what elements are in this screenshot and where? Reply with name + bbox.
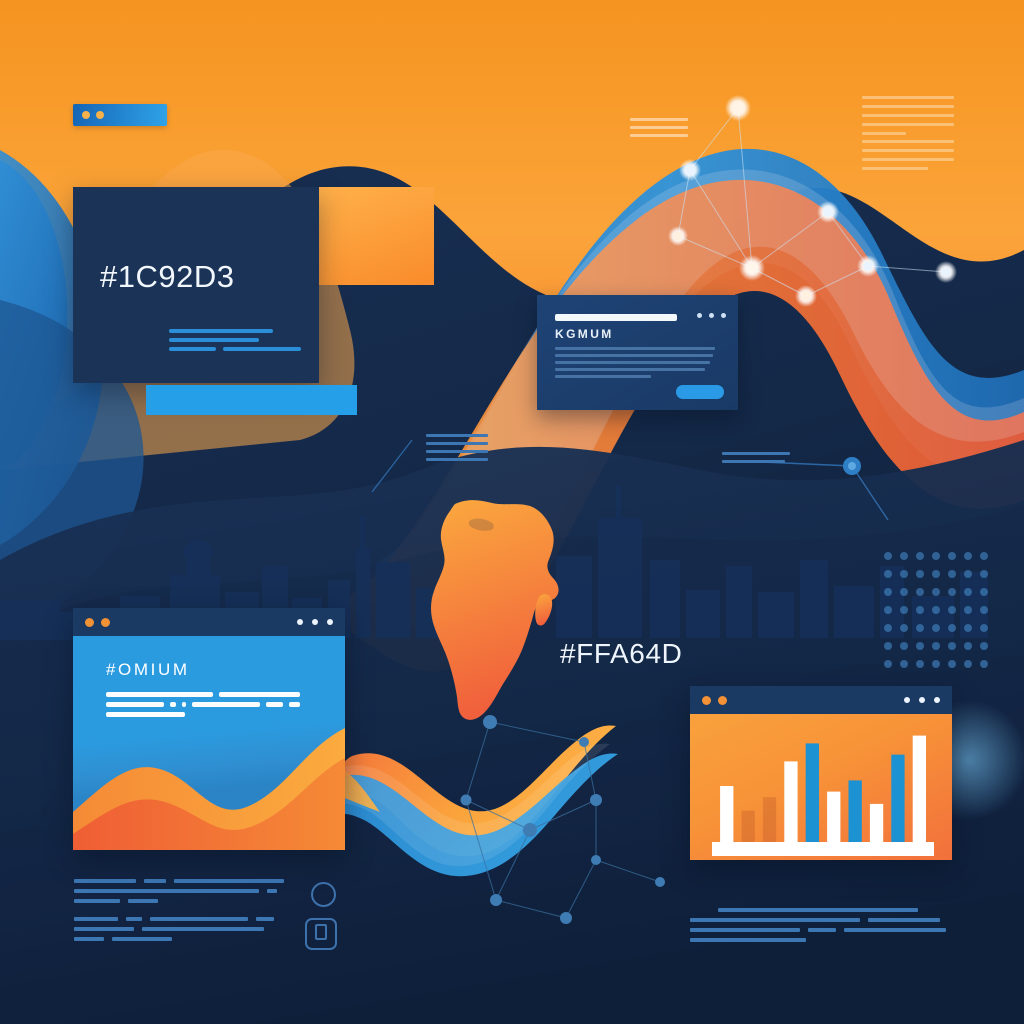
window-dot bbox=[96, 111, 104, 119]
chip-outline-icon[interactable] bbox=[305, 918, 337, 950]
url-bar[interactable] bbox=[555, 314, 677, 321]
kgmum-card[interactable]: KGMUM bbox=[537, 295, 738, 410]
mini-browser-bar[interactable] bbox=[73, 104, 167, 126]
blue-accent-block bbox=[146, 385, 357, 415]
text-block-bottom-left-a bbox=[74, 879, 286, 903]
circle-outline-icon[interactable] bbox=[311, 882, 336, 907]
chart-content bbox=[690, 714, 952, 860]
traffic-lights[interactable] bbox=[85, 618, 110, 627]
text-block-bottom-right bbox=[690, 908, 952, 942]
kgmum-body-text bbox=[555, 347, 715, 382]
traffic-lights[interactable] bbox=[702, 696, 727, 705]
text-block-top-right-a bbox=[862, 96, 954, 135]
window-controls[interactable] bbox=[697, 313, 726, 318]
window-dot bbox=[82, 111, 90, 119]
hero-color-card: #1C92D3 bbox=[73, 187, 319, 383]
window-chrome[interactable] bbox=[690, 686, 952, 714]
window-menu-dots[interactable] bbox=[904, 697, 940, 703]
text-block-top-middle bbox=[630, 118, 688, 137]
ffa-hex-label: #FFA64D bbox=[560, 638, 682, 670]
poster-canvas: #1C92D3 KGMUM # bbox=[0, 0, 1024, 1024]
kgmum-cta-button[interactable] bbox=[676, 385, 724, 399]
omium-content: #OMIUM bbox=[73, 636, 345, 850]
bar-chart bbox=[690, 714, 952, 860]
text-block-mid-right bbox=[722, 452, 790, 463]
hero-hex-label: #1C92D3 bbox=[100, 259, 234, 295]
text-block-top-right-b bbox=[862, 140, 954, 170]
chart-browser-window[interactable] bbox=[690, 686, 952, 860]
text-block-mid-left bbox=[426, 434, 488, 461]
omium-browser-window[interactable]: #OMIUM bbox=[73, 608, 345, 850]
chip-inner-glyph bbox=[315, 924, 327, 940]
window-chrome[interactable] bbox=[73, 608, 345, 636]
text-block-bottom-left-b bbox=[74, 917, 286, 941]
kgmum-heading: KGMUM bbox=[555, 327, 614, 341]
window-menu-dots[interactable] bbox=[297, 619, 333, 625]
omium-wave-graphic bbox=[73, 636, 345, 850]
orange-accent-block bbox=[316, 187, 434, 285]
hero-text-lines bbox=[169, 329, 301, 356]
